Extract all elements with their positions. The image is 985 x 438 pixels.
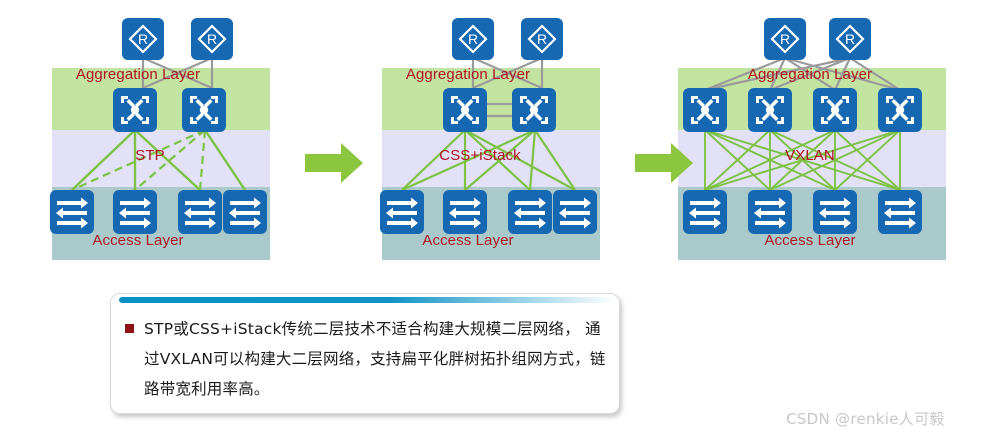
router-icon[interactable]: R — [764, 18, 806, 60]
css-istack-panel: Aggregation Layer CSS+iStack Access Laye… — [330, 0, 630, 275]
access-switch-icon[interactable] — [878, 190, 922, 234]
svg-text:R: R — [845, 31, 855, 47]
svg-text:R: R — [138, 31, 148, 47]
router-icon[interactable]: R — [452, 18, 494, 60]
core-switch-icon[interactable] — [813, 88, 857, 132]
core-switch-icon[interactable] — [512, 88, 556, 132]
diagram-stage: Aggregation Layer STP Access Layer R R — [0, 0, 985, 438]
arrow-stp-to-css — [303, 140, 365, 186]
vxlan-panel: Aggregation Layer VXLAN Access Layer R R — [660, 0, 960, 275]
core-switch-icon[interactable] — [113, 88, 157, 132]
vxlan-tech-label: VXLAN — [660, 147, 960, 164]
router-icon[interactable]: R — [191, 18, 233, 60]
callout-body: STP或CSS+iStack传统二层技术不适合构建大规模二层网络， 通过VXLA… — [125, 314, 609, 404]
core-switch-icon[interactable] — [748, 88, 792, 132]
css-access-label: Access Layer — [318, 232, 618, 249]
router-icon[interactable]: R — [521, 18, 563, 60]
core-switch-icon[interactable] — [878, 88, 922, 132]
access-switch-icon[interactable] — [683, 190, 727, 234]
callout-text: STP或CSS+iStack传统二层技术不适合构建大规模二层网络， 通过VXLA… — [144, 314, 609, 404]
css-aggregation-label: Aggregation Layer — [318, 66, 618, 83]
access-switch-icon[interactable] — [113, 190, 157, 234]
css-tech-label: CSS+iStack — [330, 147, 630, 164]
core-switch-icon[interactable] — [683, 88, 727, 132]
router-icon[interactable]: R — [829, 18, 871, 60]
access-switch-icon[interactable] — [553, 190, 597, 234]
vxlan-aggregation-label: Aggregation Layer — [660, 66, 960, 83]
arrow-css-to-vxlan — [633, 140, 695, 186]
svg-text:R: R — [468, 31, 478, 47]
svg-text:R: R — [537, 31, 547, 47]
watermark: CSDN @renkie人可毅 — [786, 408, 945, 429]
vxlan-access-label: Access Layer — [660, 232, 960, 249]
access-switch-icon[interactable] — [443, 190, 487, 234]
callout-accent-bar — [119, 297, 615, 303]
access-switch-icon[interactable] — [50, 190, 94, 234]
bullet-marker-icon — [125, 324, 134, 333]
access-switch-icon[interactable] — [508, 190, 552, 234]
core-switch-icon[interactable] — [443, 88, 487, 132]
svg-text:R: R — [780, 31, 790, 47]
stp-aggregation-label: Aggregation Layer — [0, 66, 288, 83]
access-switch-icon[interactable] — [748, 190, 792, 234]
core-switch-icon[interactable] — [182, 88, 226, 132]
svg-text:R: R — [207, 31, 217, 47]
stp-panel: Aggregation Layer STP Access Layer R R — [0, 0, 300, 275]
router-icon[interactable]: R — [122, 18, 164, 60]
access-switch-icon[interactable] — [178, 190, 222, 234]
access-switch-icon[interactable] — [813, 190, 857, 234]
stp-access-label: Access Layer — [0, 232, 288, 249]
access-switch-icon[interactable] — [380, 190, 424, 234]
access-switch-icon[interactable] — [223, 190, 267, 234]
stp-tech-label: STP — [0, 147, 300, 164]
summary-callout: STP或CSS+iStack传统二层技术不适合构建大规模二层网络， 通过VXLA… — [110, 293, 620, 414]
